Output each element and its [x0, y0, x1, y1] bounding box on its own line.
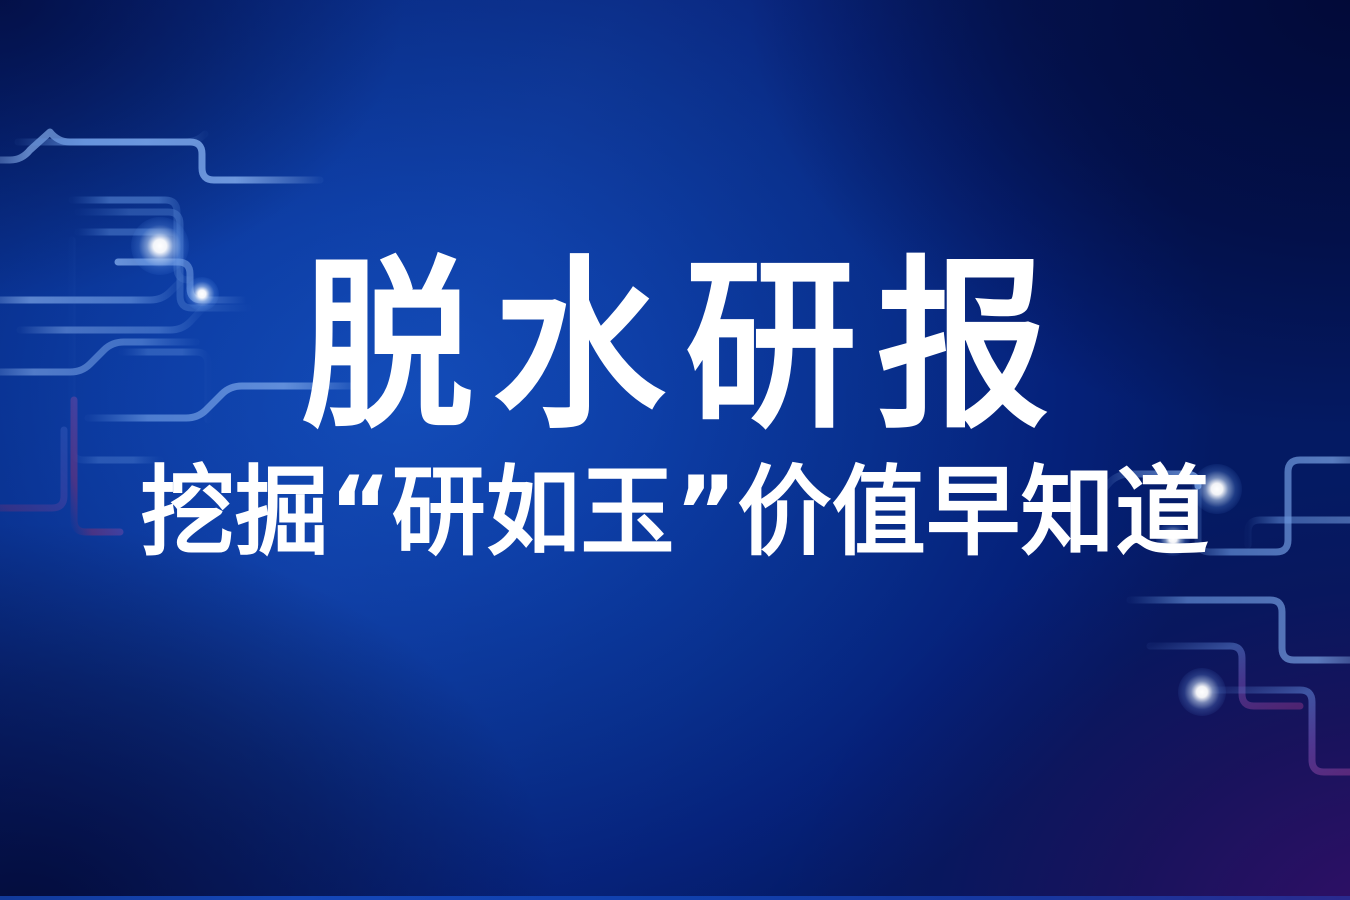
- page-subtitle: 挖掘“研如玉”价值早知道: [140, 465, 1209, 563]
- bottom-accent-strip: [0, 896, 1350, 900]
- poster-canvas: 脱水研报 挖掘“研如玉”价值早知道: [0, 0, 1350, 900]
- headline-block: 脱水研报 挖掘“研如玉”价值早知道: [0, 255, 1350, 559]
- page-title: 脱水研报: [282, 255, 1069, 439]
